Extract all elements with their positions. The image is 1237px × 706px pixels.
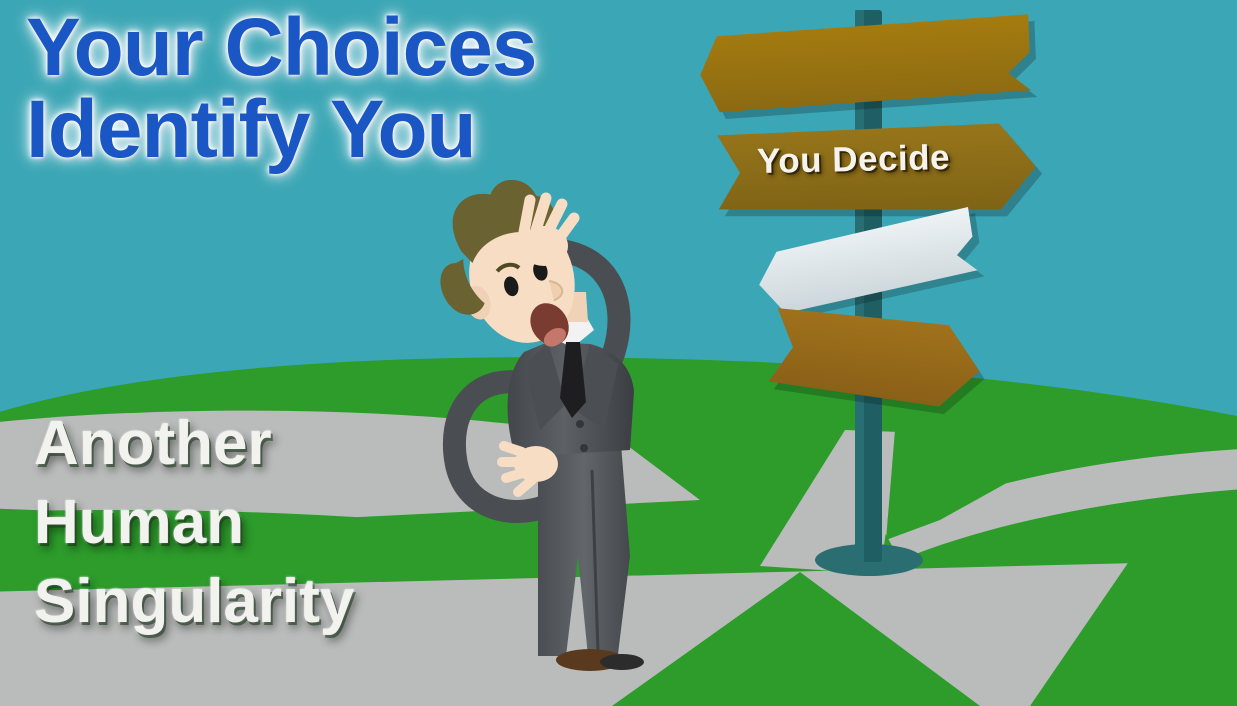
caption-line-3: Singularity <box>34 570 354 633</box>
caption-line-1: Another <box>34 412 354 475</box>
caption-block: Another Human Singularity <box>34 412 354 634</box>
sign-you-decide-label: You Decide <box>757 138 951 182</box>
character-button-1 <box>576 420 584 428</box>
character-shoe-right <box>600 654 644 670</box>
caption-line-2: Human <box>34 491 354 554</box>
character-palm-raised <box>520 226 568 266</box>
character-button-2 <box>580 444 588 452</box>
headline-block: Your Choices Identify You <box>26 8 536 171</box>
headline-line-2: Identify You <box>26 90 536 170</box>
video-thumbnail-slide: Your Choices Identify You Another Human … <box>0 0 1237 706</box>
headline-line-1: Your Choices <box>26 8 536 88</box>
